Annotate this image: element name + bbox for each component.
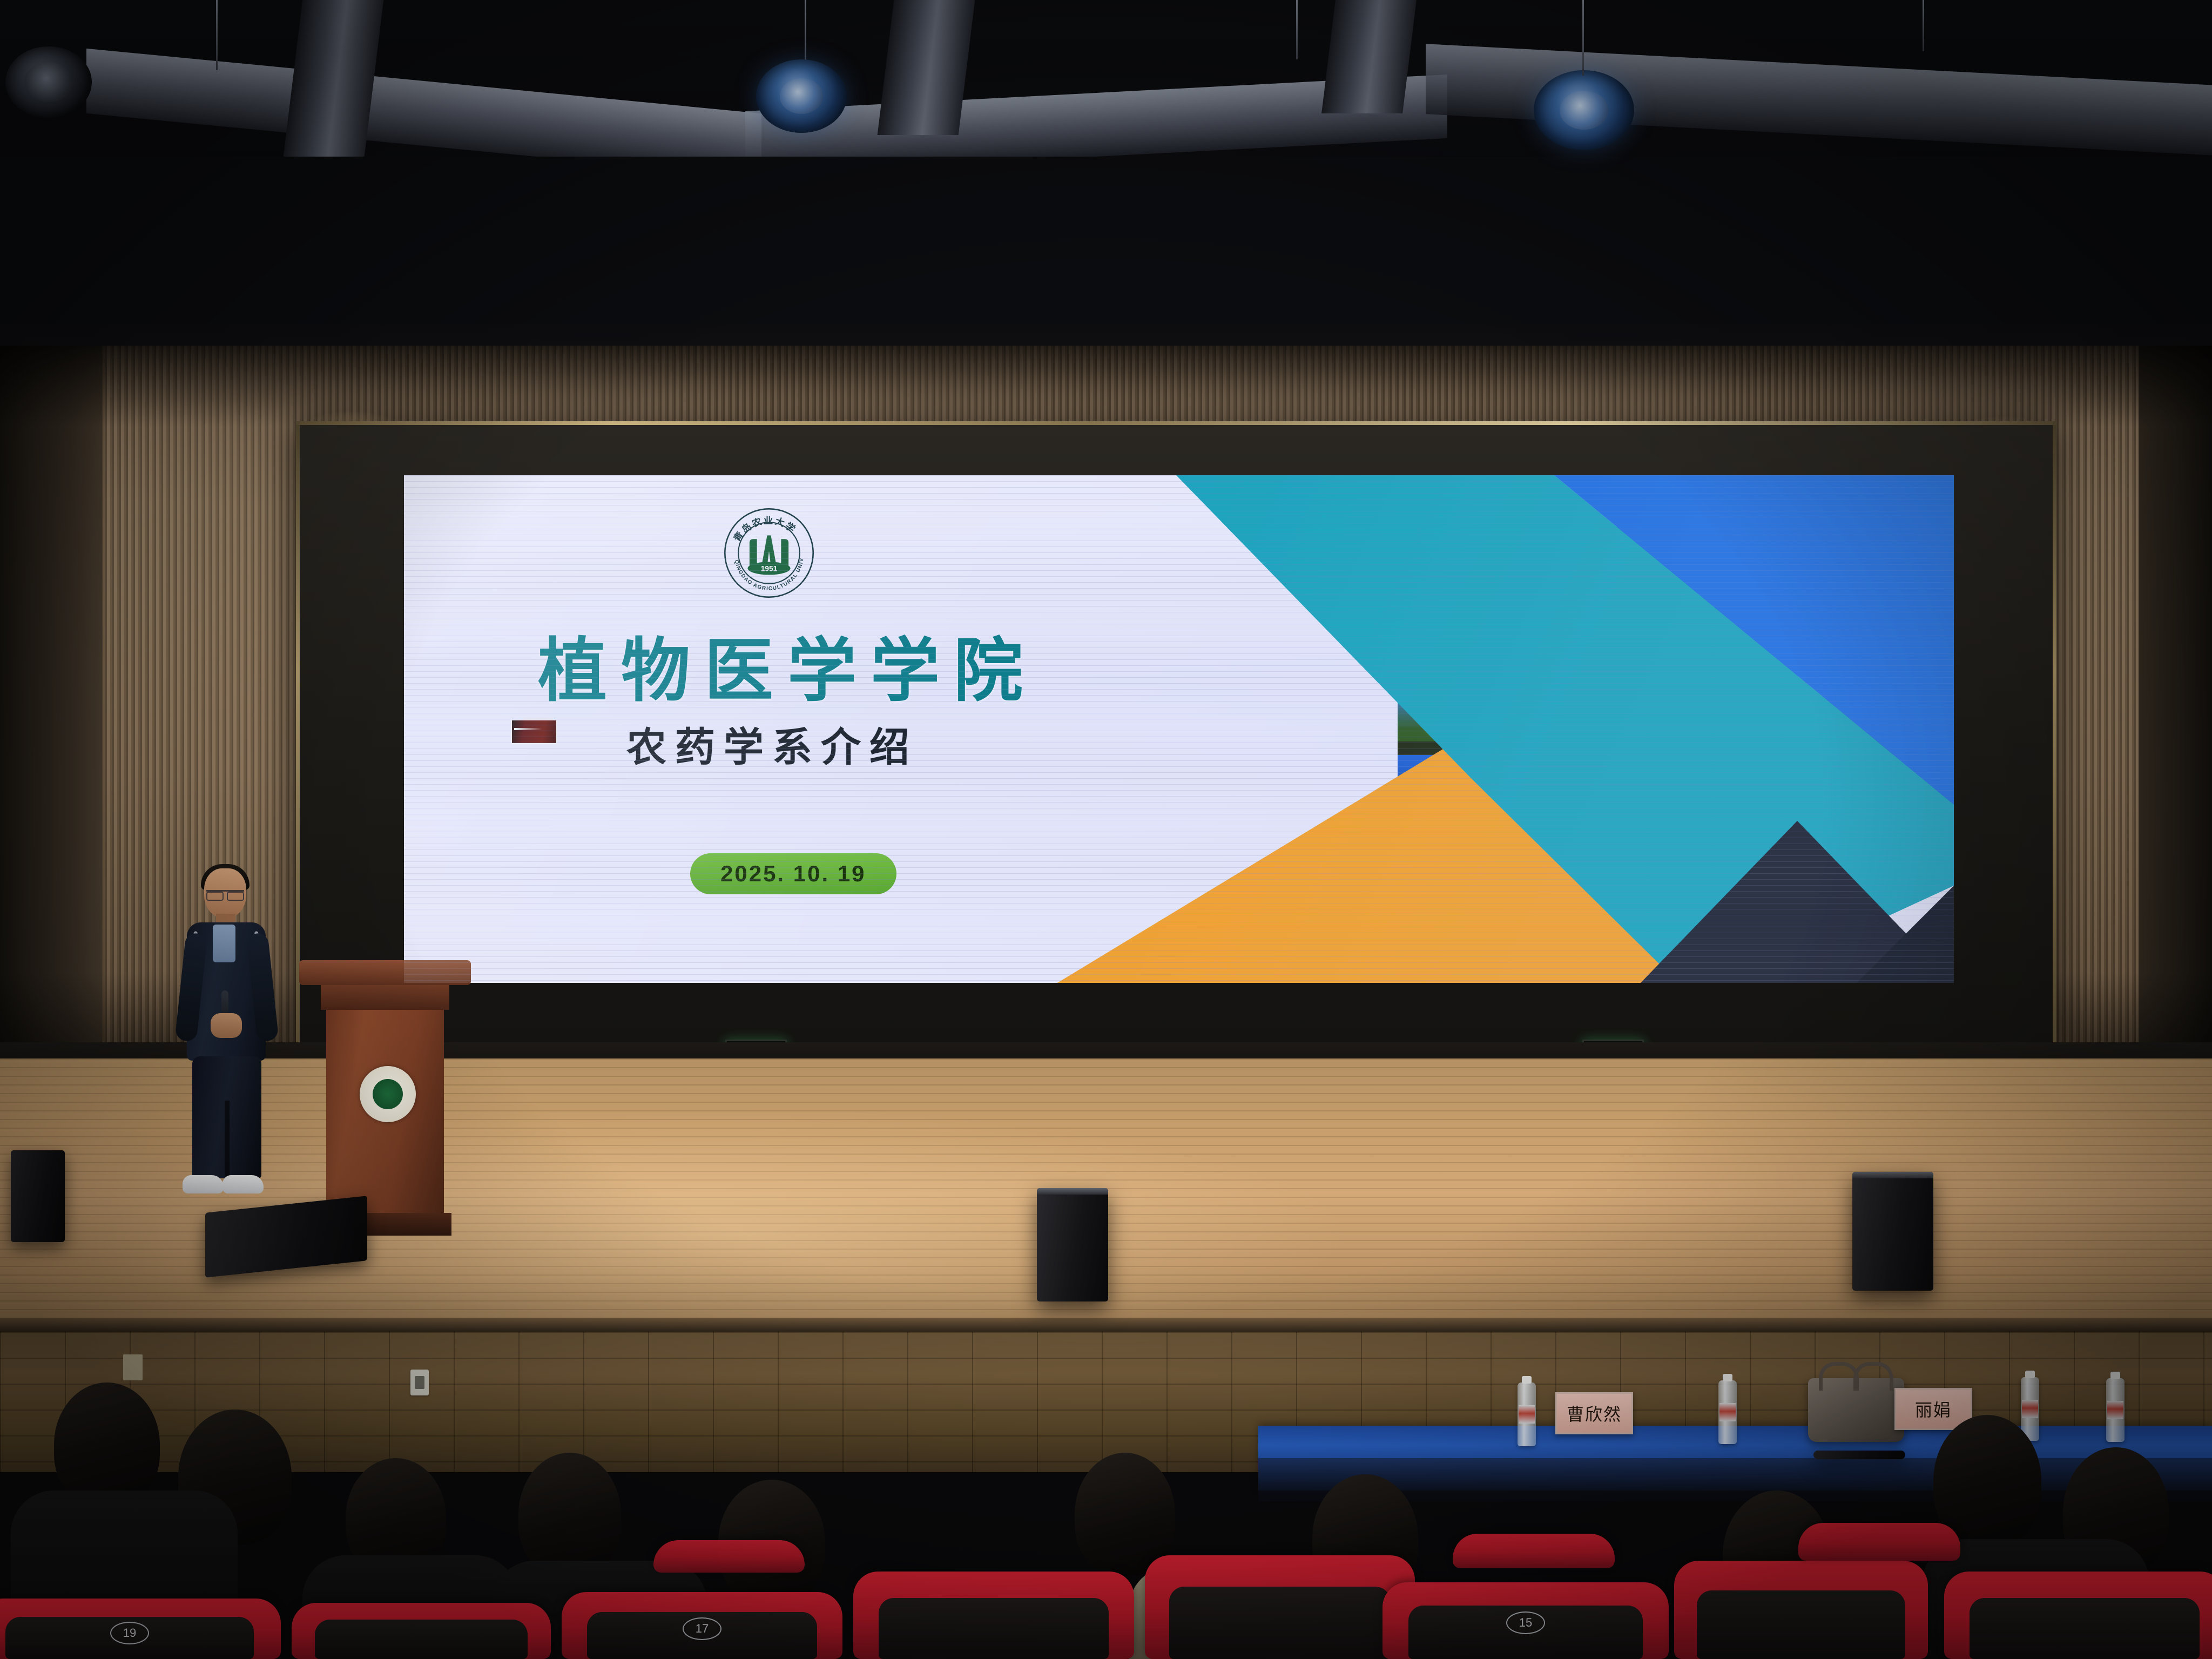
- wall-box-icon: [123, 1354, 143, 1380]
- water-bottle: [1518, 1382, 1536, 1446]
- ceiling-beam: [281, 0, 384, 178]
- speaker-top: [1852, 1172, 1933, 1178]
- stage-monitor: [11, 1150, 65, 1242]
- wall-left-shadow: [0, 346, 103, 1058]
- seat-number: 17: [683, 1617, 721, 1640]
- audience-head: [518, 1453, 621, 1577]
- speaker-top: [1037, 1188, 1108, 1195]
- power-outlet-icon: [410, 1370, 429, 1395]
- auditorium-seat[interactable]: [1145, 1555, 1415, 1659]
- ceiling-duct: [0, 157, 2212, 335]
- auditorium-scene: 1951 QINGDAO AGRICULTURAL UNIVERSITY 青岛农…: [0, 0, 2212, 1659]
- slide-subtitle: 农药学系介绍: [626, 715, 918, 773]
- presenter-shoe: [222, 1175, 264, 1193]
- ceiling-fan-icon: [5, 46, 92, 118]
- seat-back: [1169, 1587, 1391, 1659]
- podium-crest-icon: [360, 1066, 416, 1122]
- seat-back: [879, 1598, 1109, 1659]
- microphone-on-table: [1813, 1451, 1905, 1459]
- water-bottle: [2021, 1377, 2039, 1441]
- hanging-wire: [1923, 0, 1924, 51]
- auditorium-seat[interactable]: 15: [1382, 1582, 1669, 1659]
- led-display: 1951 QINGDAO AGRICULTURAL UNIVERSITY 青岛农…: [404, 475, 1954, 983]
- ceiling-beam: [1321, 0, 1417, 113]
- auditorium-seat[interactable]: [292, 1603, 551, 1659]
- floor-speaker: [1037, 1188, 1108, 1301]
- svg-text:1951: 1951: [761, 565, 778, 573]
- slide-date-badge: 2025. 10. 19: [690, 853, 896, 894]
- wall-right-shadow: [2139, 346, 2212, 1058]
- hanging-wire: [1296, 0, 1298, 59]
- audience-head: [54, 1382, 160, 1507]
- seat-back: [1970, 1598, 2200, 1659]
- bezel-gold-trim: [296, 421, 300, 1042]
- presenter: [173, 868, 281, 1204]
- seat-number: 15: [1506, 1611, 1545, 1634]
- auditorium-seat[interactable]: [1798, 1523, 1960, 1561]
- bezel-gold-trim: [2053, 421, 2056, 1042]
- slide-decoration-mark: [511, 719, 557, 744]
- auditorium-seat[interactable]: 17: [562, 1592, 842, 1659]
- seat-back: [1697, 1590, 1905, 1659]
- podium-neck: [321, 985, 449, 1010]
- stage-light-icon: [1534, 70, 1634, 150]
- auditorium-seat[interactable]: [1453, 1534, 1615, 1568]
- svg-text:青岛农业大学: 青岛农业大学: [731, 516, 798, 544]
- slide-title: 植物医学学院: [538, 615, 1037, 714]
- auditorium-seat[interactable]: [1674, 1561, 1928, 1659]
- seat-number: 19: [110, 1622, 149, 1644]
- floor-speaker: [1852, 1172, 1933, 1291]
- trouser-split: [225, 1101, 230, 1178]
- name-card: 曹欣然: [1555, 1392, 1633, 1434]
- ceiling: [0, 0, 2212, 346]
- auditorium-seat[interactable]: 19: [0, 1599, 281, 1659]
- university-seal-icon: 1951 QINGDAO AGRICULTURAL UNIVERSITY 青岛农…: [723, 507, 815, 599]
- handbag: [1808, 1378, 1904, 1442]
- bezel-gold-trim: [296, 421, 2056, 425]
- presenter-shirt: [213, 925, 235, 962]
- hanging-wire: [216, 0, 218, 70]
- water-bottle: [1718, 1380, 1737, 1444]
- stage-lip: [0, 1318, 2212, 1332]
- auditorium-seat[interactable]: [853, 1572, 1134, 1659]
- auditorium-seat[interactable]: [653, 1540, 805, 1573]
- seat-back: [315, 1620, 528, 1659]
- presenter-shoe: [183, 1175, 224, 1193]
- presenter-hands: [211, 1013, 242, 1038]
- auditorium-seat[interactable]: [1944, 1572, 2212, 1659]
- glasses-icon: [206, 890, 244, 899]
- hanging-wire: [1582, 0, 1584, 76]
- stage-light-icon: [756, 59, 847, 133]
- ceiling-beam: [878, 0, 975, 135]
- water-bottle: [2106, 1378, 2125, 1442]
